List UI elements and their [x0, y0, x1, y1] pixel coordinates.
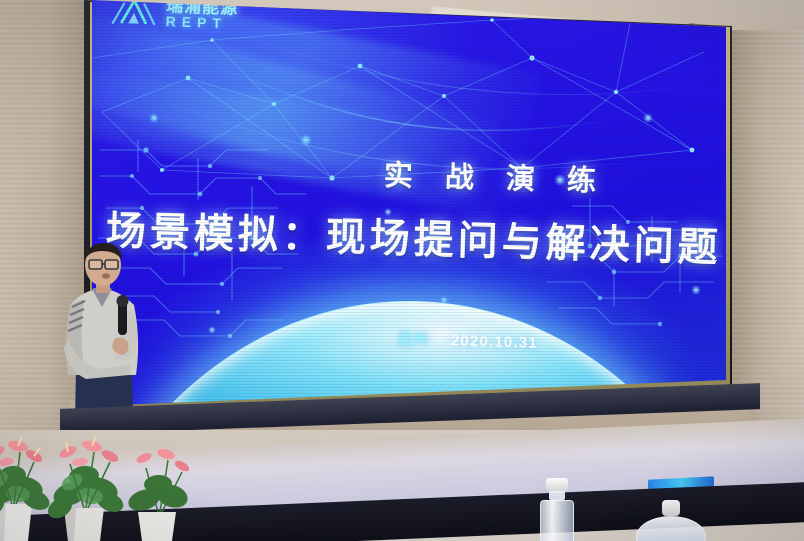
- bottle-cap: [546, 478, 568, 491]
- flowers: [135, 447, 191, 473]
- anthurium-plant: [0, 436, 52, 541]
- slide-text-block: 实 战 演 练 场景模拟：现场提问与解决问题 温州 2020.10.31: [92, 0, 726, 406]
- bottle-neck: [549, 491, 565, 500]
- leaves: [126, 474, 191, 514]
- led-video-wall: 瑞浦能源 REPT 实 战 演 练 场景模拟：现场提问与解决问题 温州 2020…: [92, 0, 726, 406]
- anthurium-plant: [126, 447, 191, 541]
- slide-title: 场景模拟：现场提问与解决问题: [105, 198, 722, 273]
- water-bottle: [636, 500, 706, 541]
- water-bottle: [540, 478, 574, 541]
- slide-footer-city: 温州: [397, 331, 430, 349]
- flowers: [0, 436, 44, 467]
- anthurium-plant: [44, 436, 126, 541]
- bottle-cap: [662, 500, 680, 516]
- flowers: [58, 436, 120, 467]
- bottle-body: [540, 500, 574, 541]
- slide-footer-date: 2020.10.31: [451, 332, 538, 351]
- slide-footer: 温州 2020.10.31: [397, 328, 538, 353]
- bottle-body: [636, 516, 706, 541]
- slide-subtitle: 实 战 演 练: [383, 152, 608, 200]
- white-pot: [138, 512, 176, 541]
- presentation-photo-scene: 瑞浦能源 REPT 实 战 演 练 场景模拟：现场提问与解决问题 温州 2020…: [0, 0, 804, 541]
- anthurium-plant-group: [0, 418, 218, 541]
